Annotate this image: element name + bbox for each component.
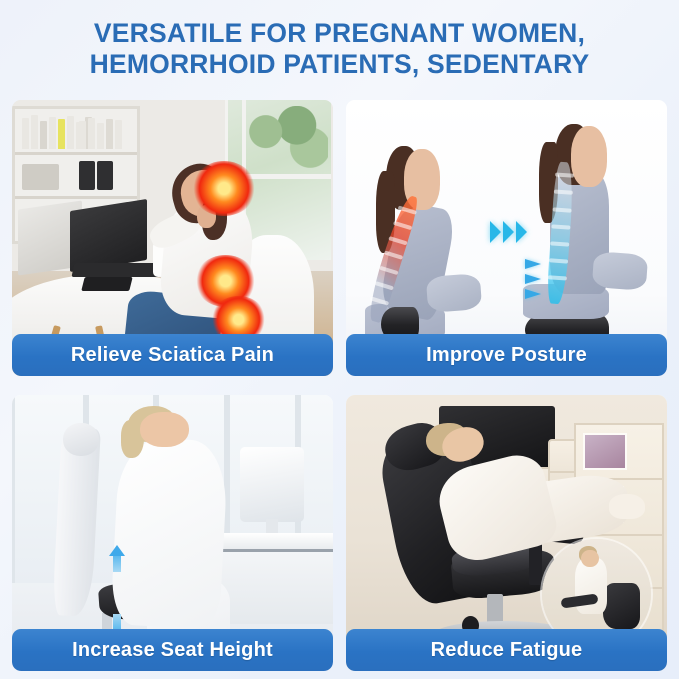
title-line-1: VERSATILE FOR PREGNANT WOMEN, (20, 18, 659, 49)
arrow-up-icon (108, 545, 125, 572)
monitor (240, 447, 304, 522)
figure-slouched (365, 122, 493, 365)
panel-improve-posture[interactable]: Improve Posture (346, 100, 667, 376)
panel-caption-increase-seat-height: Increase Seat Height (12, 629, 333, 671)
panel-reduce-fatigue[interactable]: ✕ Reduce Fatigue (346, 395, 667, 671)
figure-upright (523, 111, 658, 365)
panel-relieve-sciatica-pain[interactable]: Relieve Sciatica Pain (12, 100, 333, 376)
panel-increase-seat-height[interactable]: Increase Seat Height (12, 395, 333, 671)
infographic-page: VERSATILE FOR PREGNANT WOMEN, HEMORRHOID… (0, 0, 679, 679)
person-figure (110, 436, 229, 629)
panel-caption-improve-posture: Improve Posture (346, 334, 667, 376)
support-arrows-icon (525, 259, 541, 299)
laptop (70, 199, 147, 272)
page-title: VERSATILE FOR PREGNANT WOMEN, HEMORRHOID… (0, 0, 679, 88)
panel-caption-relieve-sciatica-pain: Relieve Sciatica Pain (12, 334, 333, 376)
panel-caption-reduce-fatigue: Reduce Fatigue (346, 629, 667, 671)
pain-marker-neck (192, 161, 256, 216)
feature-panel-grid: Relieve Sciatica Pain (12, 100, 667, 671)
title-line-2: HEMORRHOID PATIENTS, SEDENTARY (20, 49, 659, 80)
